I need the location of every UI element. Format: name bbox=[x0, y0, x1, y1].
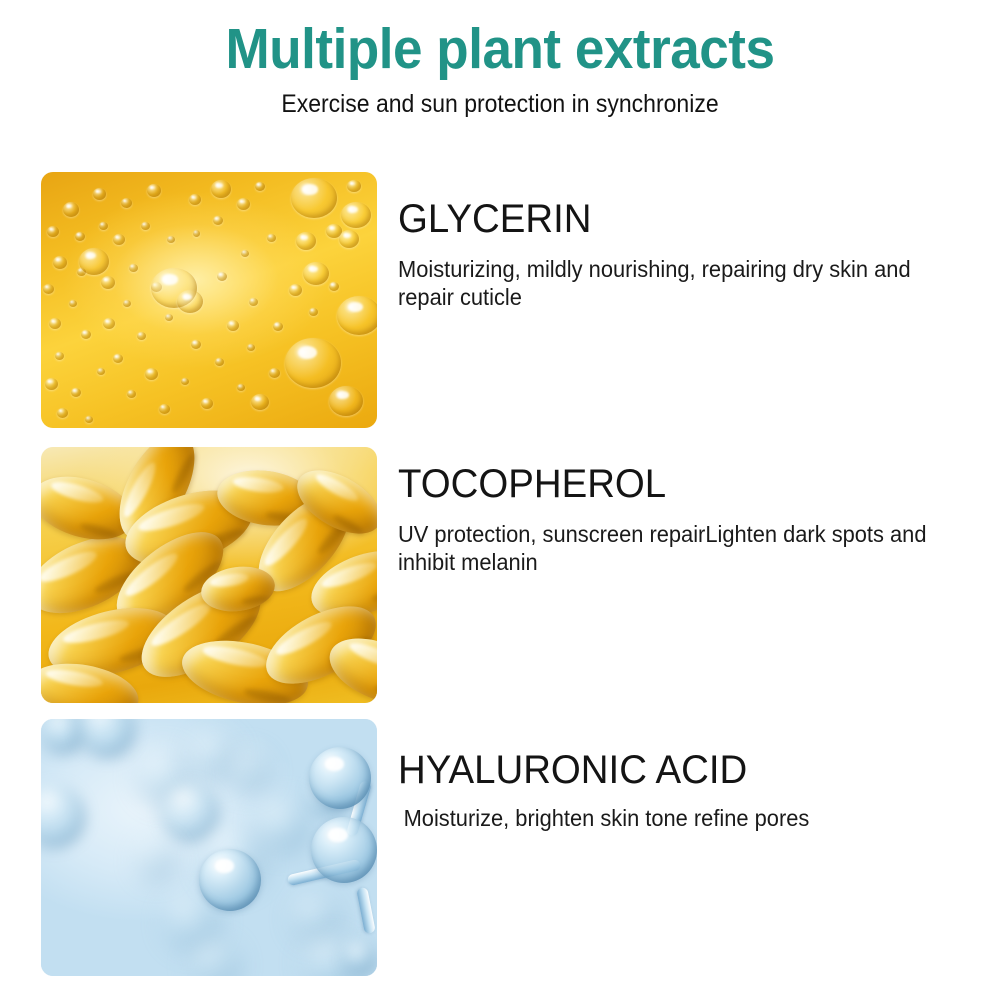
ingredient-name: HYALURONIC ACID bbox=[398, 749, 936, 791]
ingredient-row-glycerin: GLYCERIN Moisturizing, mildly nourishing… bbox=[0, 172, 1000, 428]
ingredient-text-hyaluronic-acid: HYALURONIC ACID Moisturize, brighten ski… bbox=[398, 749, 958, 833]
blue-molecule-structure-photo bbox=[41, 719, 377, 976]
ingredient-description: Moisturize, brighten skin tone refine po… bbox=[398, 791, 962, 833]
ingredient-image-hyaluronic-acid bbox=[41, 719, 377, 976]
ingredient-text-glycerin: GLYCERIN Moisturizing, mildly nourishing… bbox=[398, 198, 958, 311]
ingredient-description: UV protection, sunscreen repairLighten d… bbox=[398, 505, 956, 576]
ingredient-image-tocopherol bbox=[41, 447, 377, 703]
ingredient-image-glycerin bbox=[41, 172, 377, 428]
ingredient-row-hyaluronic-acid: HYALURONIC ACID Moisturize, brighten ski… bbox=[0, 719, 1000, 975]
golden-oil-bubbles-photo bbox=[41, 172, 377, 428]
ingredient-description: Moisturizing, mildly nourishing, repairi… bbox=[398, 240, 956, 311]
vitamin-e-softgel-capsules-photo bbox=[41, 447, 377, 703]
ingredient-name: GLYCERIN bbox=[398, 198, 936, 240]
ingredient-row-tocopherol: TOCOPHEROL UV protection, sunscreen repa… bbox=[0, 447, 1000, 703]
ingredient-text-tocopherol: TOCOPHEROL UV protection, sunscreen repa… bbox=[398, 463, 958, 576]
ingredient-list: GLYCERIN Moisturizing, mildly nourishing… bbox=[0, 0, 1000, 1000]
ingredient-name: TOCOPHEROL bbox=[398, 463, 936, 505]
